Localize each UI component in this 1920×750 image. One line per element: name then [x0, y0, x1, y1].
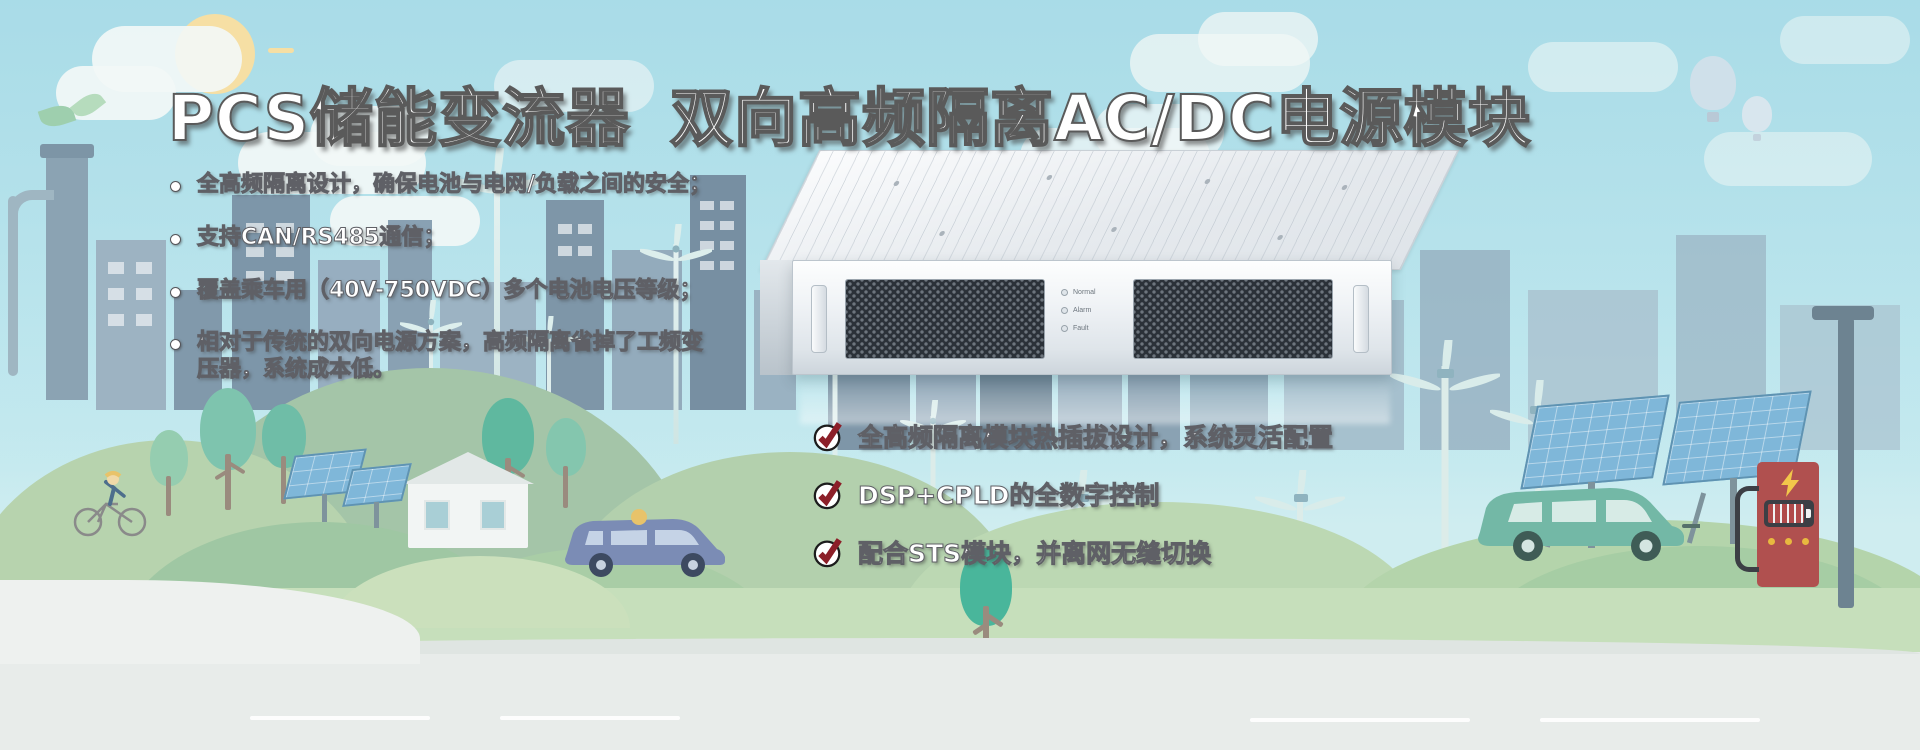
benefit-checklist: 全高频隔离模块热插拔设计，系统灵活配置 DSP+CPLD的全数字控制 配合STS… — [812, 418, 1333, 592]
checklist-item: DSP+CPLD的全数字控制 — [812, 476, 1333, 512]
car-blue — [555, 505, 740, 575]
check-circle-icon — [812, 536, 844, 568]
road-marking — [1250, 718, 1470, 722]
checklist-text: DSP+CPLD的全数字控制 — [858, 476, 1159, 512]
footpath — [0, 580, 420, 664]
led-label-fault: Fault — [1073, 325, 1089, 332]
bullet-dot-icon — [170, 234, 181, 245]
page-title: PCS储能变流器双向高频隔离AC/DC电源模块 — [168, 68, 1532, 159]
device-vent-right — [1133, 279, 1333, 359]
road-marking — [250, 716, 430, 720]
device-front-panel: Normal Alarm Fault — [792, 260, 1392, 375]
check-circle-icon — [812, 478, 844, 510]
lightning-bolt-icon — [1775, 468, 1805, 498]
cyclist — [72, 470, 152, 540]
road-marking — [500, 716, 680, 720]
led-alarm — [1061, 307, 1068, 314]
charger-indicator — [1785, 538, 1792, 545]
led-label-normal: Normal — [1073, 289, 1096, 296]
ev-car-illustration — [1470, 470, 1700, 562]
device-indicator-normal: Normal — [1061, 289, 1096, 296]
feature-text: 支持CAN/RS485通信； — [197, 225, 445, 252]
headline-right: 双向高频隔离AC/DC电源模块 — [670, 82, 1532, 155]
charger-cable — [1735, 486, 1759, 572]
bullet-dot-icon — [170, 339, 181, 350]
feature-item: 相对于传统的双向电源方案，高频隔离省掉了工频变压器，系统成本低。 — [170, 330, 730, 384]
charger-battery-display — [1764, 500, 1814, 527]
feature-item: 支持CAN/RS485通信； — [170, 225, 870, 252]
device-handle-right — [1353, 285, 1369, 353]
car-ev-green — [1470, 470, 1700, 560]
led-fault — [1061, 325, 1068, 332]
headline-left: PCS储能变流器 — [168, 82, 630, 155]
ev-charging-station — [1757, 462, 1831, 587]
cyclist-illustration — [72, 470, 152, 540]
feature-item: 全高频隔离设计，确保电池与电网/负载之间的安全； — [170, 172, 870, 199]
road — [0, 652, 1920, 750]
charger-indicator — [1768, 538, 1775, 545]
led-normal — [1061, 289, 1068, 296]
feature-list: 全高频隔离设计，确保电池与电网/负载之间的安全； 支持CAN/RS485通信； … — [170, 172, 870, 410]
feature-text: 覆盖乘车用（40V-750VDC）多个电池电压等级； — [197, 278, 702, 305]
feature-item: 覆盖乘车用（40V-750VDC）多个电池电压等级； — [170, 278, 870, 305]
checklist-item: 全高频隔离模块热插拔设计，系统灵活配置 — [812, 418, 1333, 454]
led-label-alarm: Alarm — [1073, 307, 1091, 314]
promo-banner: Normal Alarm Fault PCS储能变流器双向高频隔离AC/DC电源… — [0, 0, 1920, 750]
feature-text: 全高频隔离设计，确保电池与电网/负载之间的安全； — [197, 172, 711, 199]
bullet-dot-icon — [170, 181, 181, 192]
road-marking — [1540, 718, 1760, 722]
device-indicator-fault: Fault — [1061, 325, 1089, 332]
device-indicator-alarm: Alarm — [1061, 307, 1091, 314]
checklist-item: 配合STS模块，并离网无缝切换 — [812, 534, 1333, 570]
car-illustration — [555, 505, 740, 577]
device-vent-left — [845, 279, 1045, 359]
check-circle-icon — [812, 420, 844, 452]
feature-text: 相对于传统的双向电源方案，高频隔离省掉了工频变压器，系统成本低。 — [197, 330, 717, 384]
checklist-text: 配合STS模块，并离网无缝切换 — [858, 534, 1211, 570]
bullet-dot-icon — [170, 287, 181, 298]
charger-indicator — [1802, 538, 1809, 545]
checklist-text: 全高频隔离模块热插拔设计，系统灵活配置 — [858, 418, 1333, 454]
